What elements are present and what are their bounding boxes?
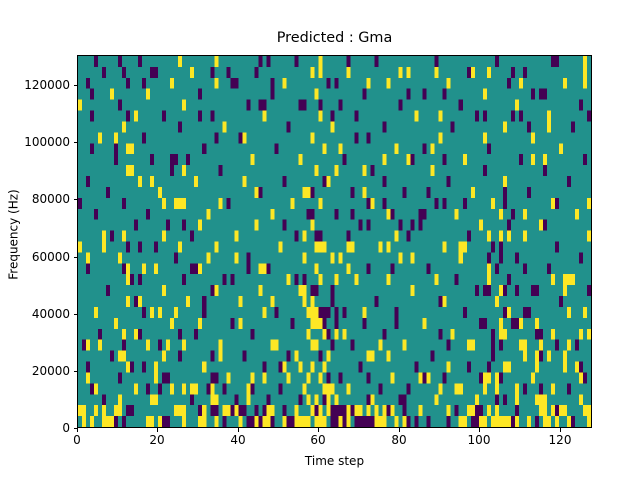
x-tick-mark [238, 428, 239, 432]
y-tick-mark [74, 371, 78, 372]
y-tick-label: 60000 [32, 251, 70, 263]
y-tick-label: 120000 [24, 79, 70, 91]
x-tick-label: 120 [549, 434, 572, 446]
y-tick-mark [74, 142, 78, 143]
figure-canvas: Predicted : Gma 020000400006000080000100… [0, 0, 640, 480]
x-tick-mark [157, 428, 158, 432]
x-tick-label: 60 [310, 434, 325, 446]
y-tick-mark [74, 314, 78, 315]
x-tick-mark [560, 428, 561, 432]
y-tick-label: 0 [62, 422, 70, 434]
x-tick-label: 20 [149, 434, 164, 446]
y-tick-label: 80000 [32, 193, 70, 205]
y-tick-label: 40000 [32, 308, 70, 320]
x-tick-label: 40 [230, 434, 245, 446]
y-tick-label: 20000 [32, 365, 70, 377]
x-tick-label: 100 [468, 434, 491, 446]
y-tick-mark [74, 85, 78, 86]
x-tick-label: 0 [73, 434, 81, 446]
x-tick-label: 80 [391, 434, 406, 446]
y-tick-mark [74, 257, 78, 258]
heatmap-image[interactable] [78, 56, 591, 427]
x-tick-mark [318, 428, 319, 432]
heatmap-axes[interactable] [77, 55, 592, 428]
y-axis-label: Frequency (Hz) [8, 175, 21, 295]
page-title: Predicted : Gma [77, 30, 592, 46]
y-tick-mark [74, 199, 78, 200]
x-tick-mark [399, 428, 400, 432]
y-tick-label: 100000 [24, 136, 70, 148]
x-tick-mark [479, 428, 480, 432]
x-axis-label: Time step [77, 455, 592, 468]
x-tick-mark [77, 428, 78, 432]
